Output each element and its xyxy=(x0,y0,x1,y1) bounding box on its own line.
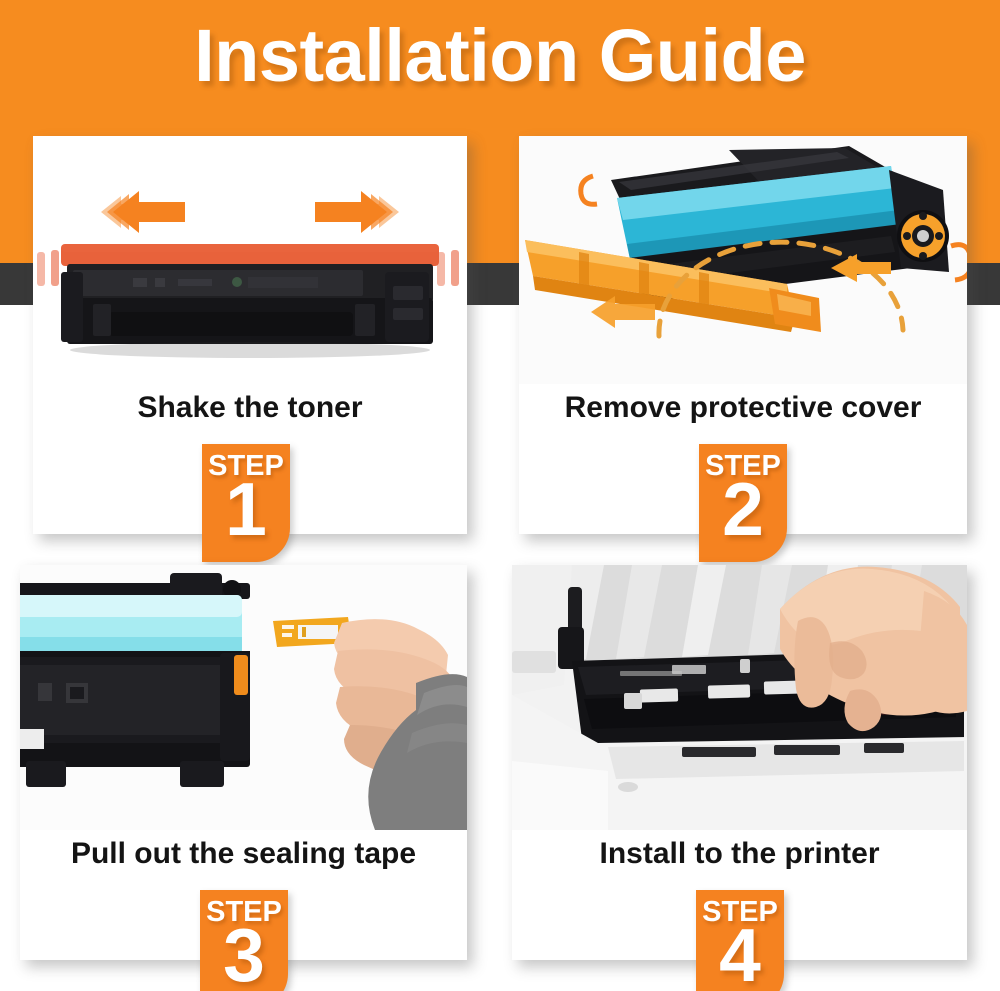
step-4-badge: STEP 4 xyxy=(696,890,784,991)
step-2-badge: STEP 2 xyxy=(699,444,787,562)
step-3-photo xyxy=(20,565,467,830)
step-3-number: 3 xyxy=(200,918,288,991)
step-3-caption: Pull out the sealing tape xyxy=(20,837,467,871)
toner-cartridge-image xyxy=(37,244,459,358)
step-2-caption: Remove protective cover xyxy=(519,391,967,425)
remove-cover-illustration xyxy=(519,136,967,384)
installation-guide-poster: Installation Guide xyxy=(0,0,1000,991)
hand-image xyxy=(780,567,967,731)
step-card-2[interactable]: Remove protective cover STEP 2 xyxy=(519,136,967,534)
step-card-4[interactable]: Install to the printer STEP 4 xyxy=(512,565,967,960)
install-printer-illustration xyxy=(512,565,967,830)
step-1-number: 1 xyxy=(202,472,290,547)
step-2-number: 2 xyxy=(699,472,787,547)
step-3-badge: STEP 3 xyxy=(200,890,288,991)
step-1-badge: STEP 1 xyxy=(202,444,290,562)
shake-toner-illustration xyxy=(33,136,467,384)
step-1-caption: Shake the toner xyxy=(33,391,467,425)
step-1-photo xyxy=(33,136,467,384)
step-4-caption: Install to the printer xyxy=(512,837,967,871)
page-title: Installation Guide xyxy=(0,16,1000,96)
toner-cartridge-image xyxy=(20,573,250,787)
step-card-1[interactable]: Shake the toner STEP 1 xyxy=(33,136,467,534)
step-4-number: 4 xyxy=(696,918,784,991)
step-card-3[interactable]: Pull out the sealing tape STEP 3 xyxy=(20,565,467,960)
step-4-photo xyxy=(512,565,967,830)
step-2-photo xyxy=(519,136,967,384)
pull-sealing-tape-illustration xyxy=(20,565,467,830)
